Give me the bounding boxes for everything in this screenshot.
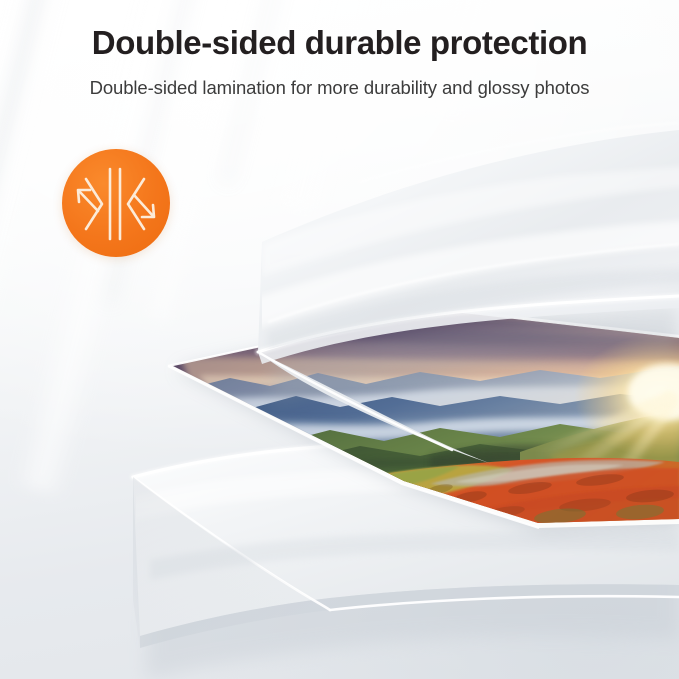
double-sided-lamination-badge — [62, 149, 170, 257]
laminating-pouch-photo-stack — [0, 0, 679, 679]
page-subtitle: Double-sided lamination for more durabil… — [0, 77, 679, 99]
arrow-lower-right-shaft — [134, 195, 153, 216]
product-feature-banner: Double-sided durable protection Double-s… — [0, 0, 679, 679]
left-chevron — [86, 179, 102, 229]
banner-text-block: Double-sided durable protection Double-s… — [0, 24, 679, 99]
page-title: Double-sided durable protection — [0, 24, 679, 63]
